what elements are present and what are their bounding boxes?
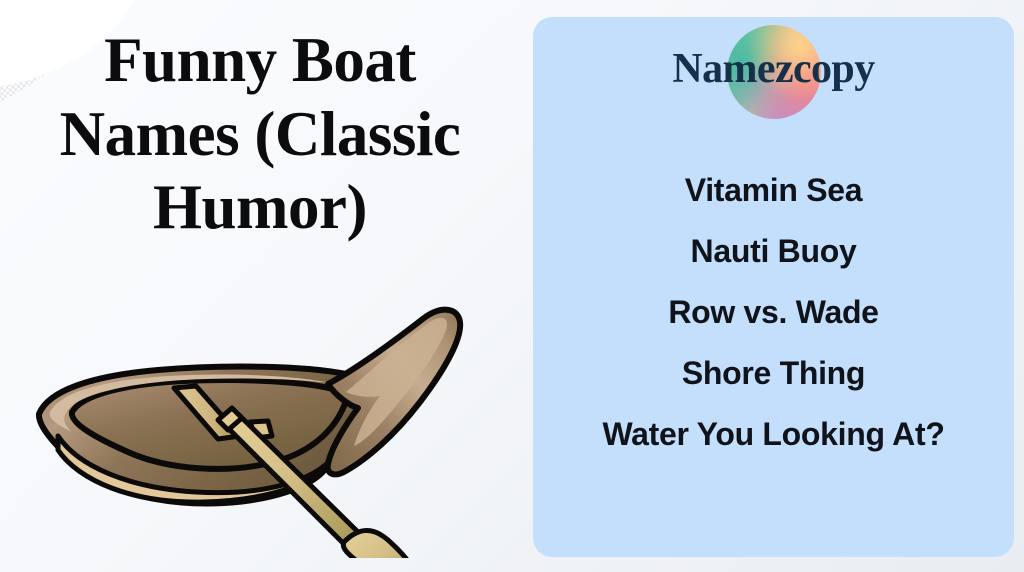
rowboat-illustration xyxy=(28,296,508,558)
page-title: Funny Boat Names (Classic Humor) xyxy=(22,24,498,245)
list-item: Water You Looking At? xyxy=(533,404,1014,465)
list-item: Nauti Buoy xyxy=(533,221,1014,282)
poster-canvas: Funny Boat Names (Classic Humor) xyxy=(0,0,1024,572)
brand-logo[interactable]: Namezcopy xyxy=(533,23,1014,123)
list-item: Vitamin Sea xyxy=(533,160,1014,221)
boat-name-list: Vitamin Sea Nauti Buoy Row vs. Wade Shor… xyxy=(533,160,1014,465)
left-column: Funny Boat Names (Classic Humor) xyxy=(0,0,520,572)
list-item: Row vs. Wade xyxy=(533,282,1014,343)
brand-name: Namezcopy xyxy=(533,45,1014,93)
names-panel: Namezcopy Vitamin Sea Nauti Buoy Row vs.… xyxy=(533,17,1014,557)
list-item: Shore Thing xyxy=(533,343,1014,404)
